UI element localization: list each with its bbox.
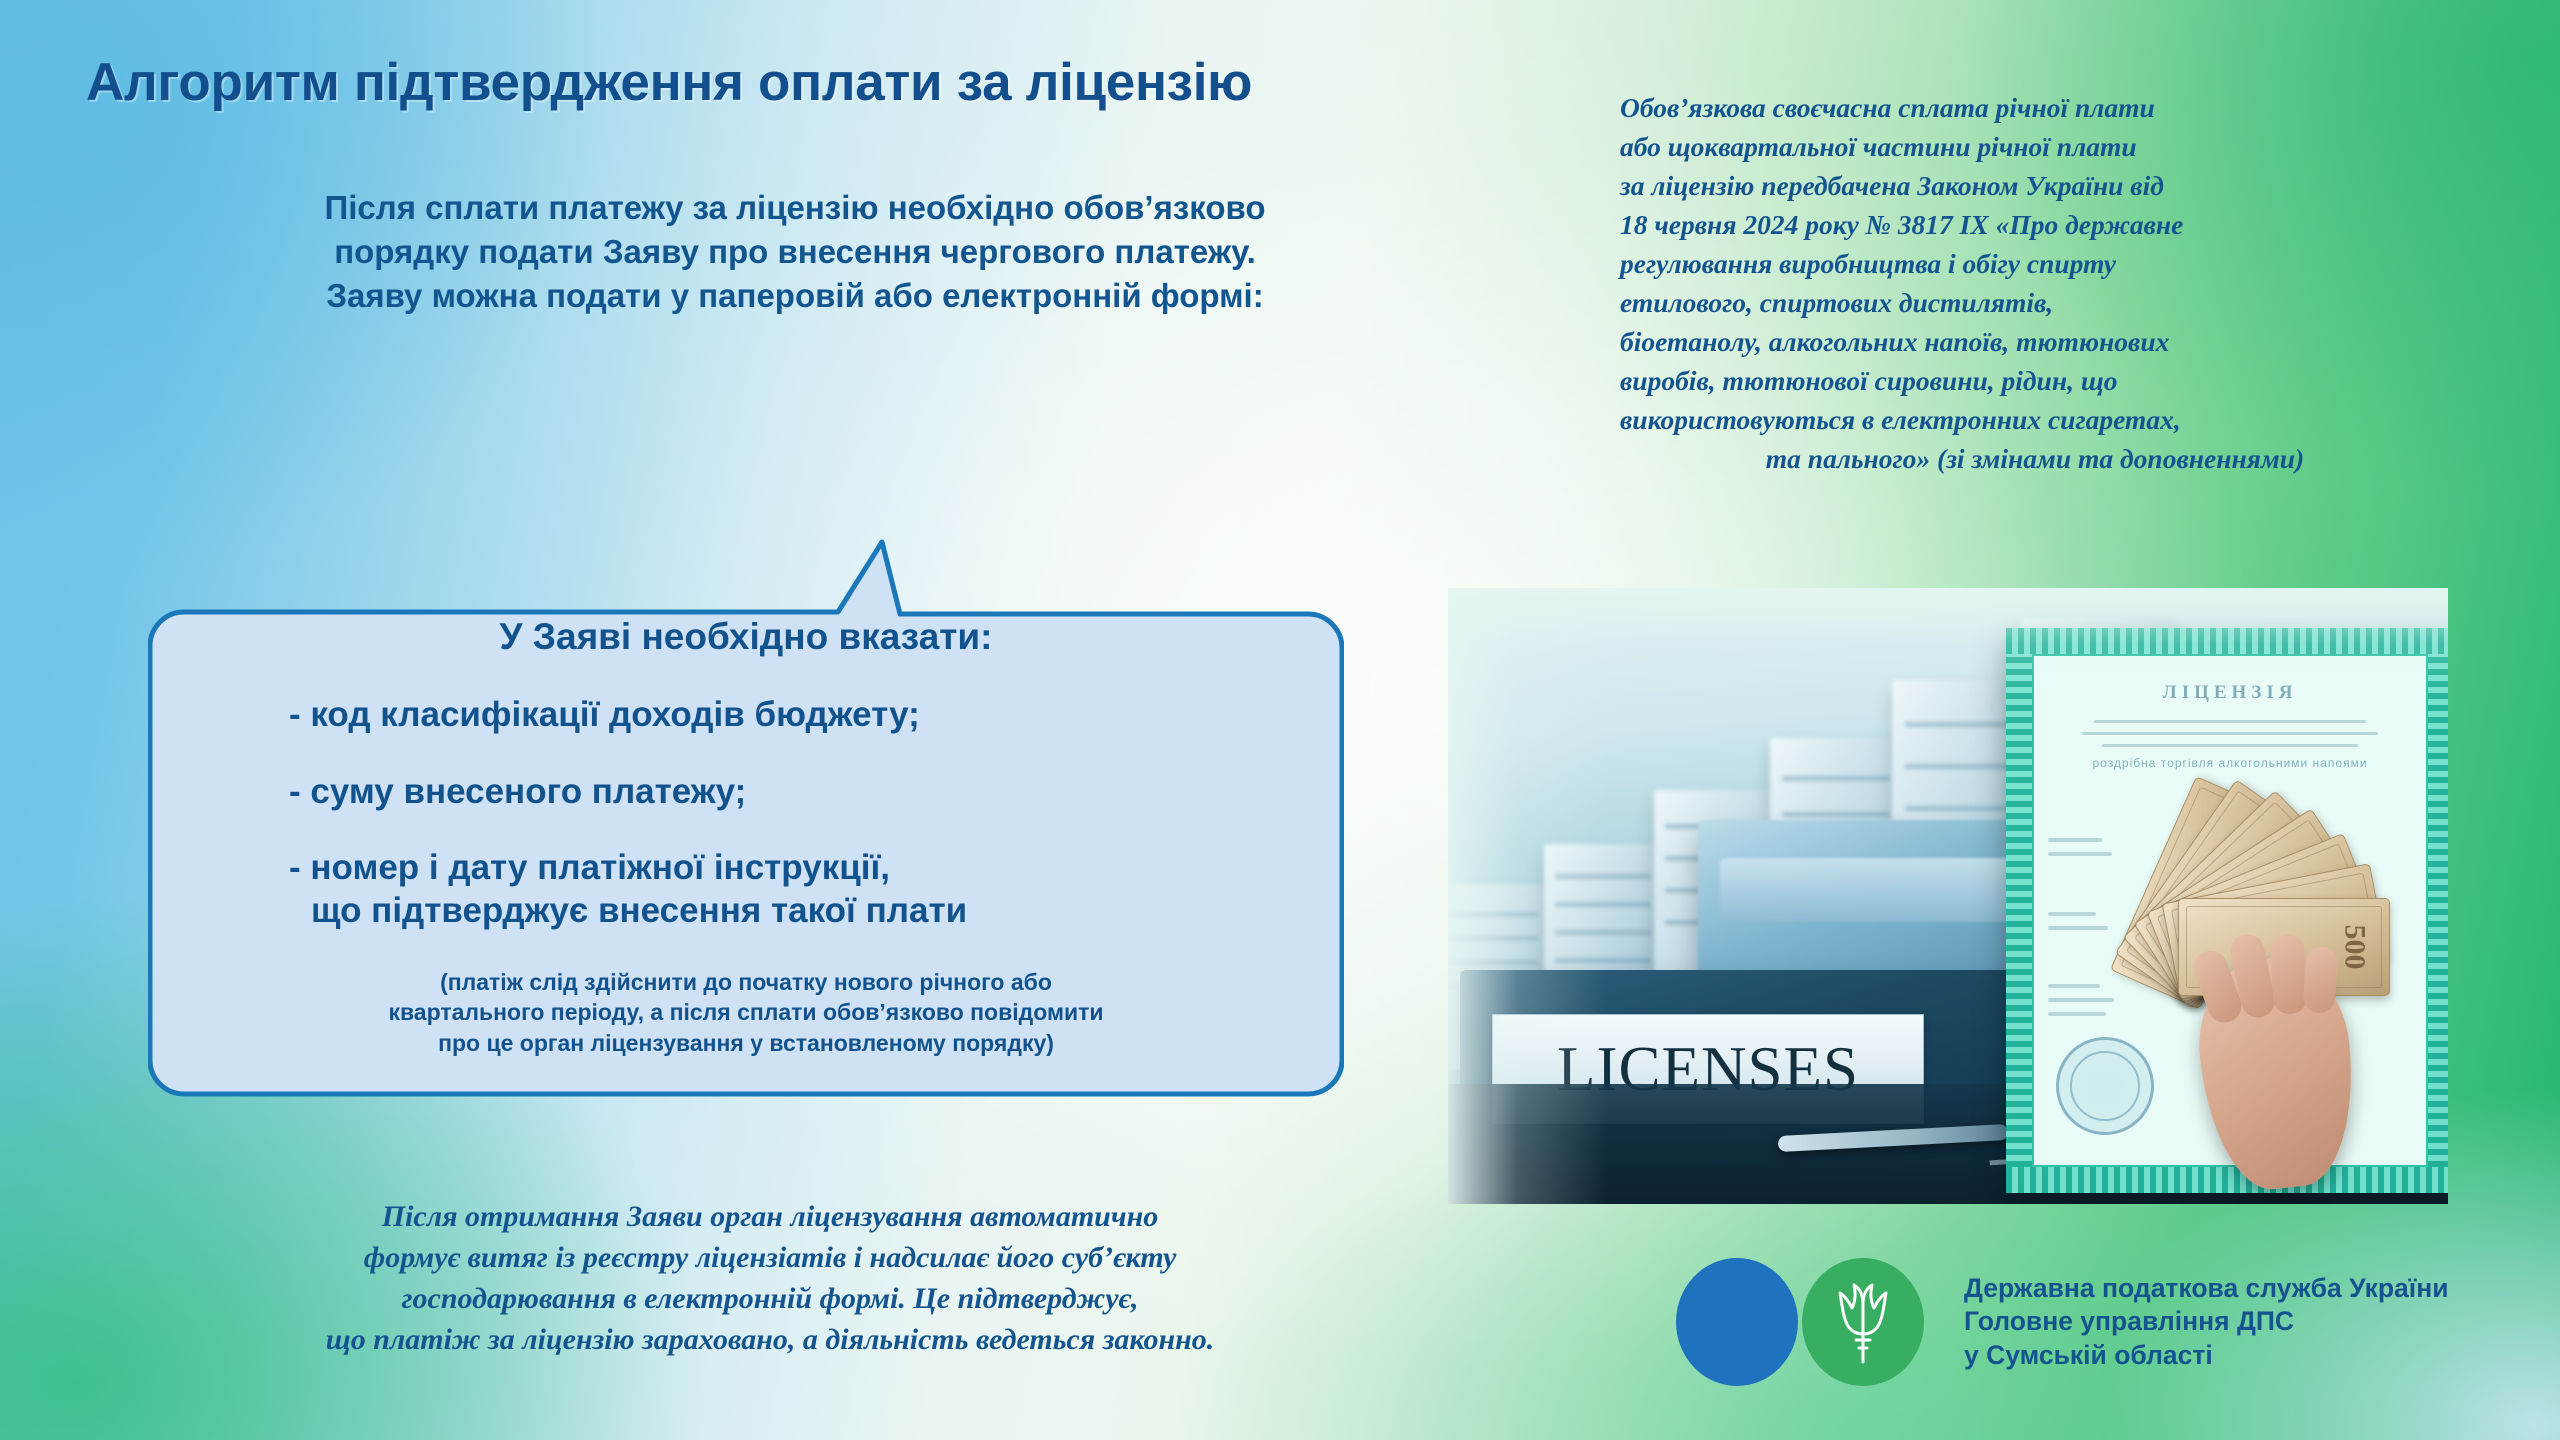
footer-line-1: Державна податкова служба України xyxy=(1964,1272,2449,1305)
law-reference-block: Обов’язкова своєчасна сплата річної плат… xyxy=(1620,88,2450,478)
trident-icon xyxy=(1832,1280,1894,1364)
binder-back-lip xyxy=(1720,858,2050,922)
law-line-9: використовуються в електронних сигаретах… xyxy=(1620,400,2450,439)
certificate-border-left xyxy=(2006,654,2032,1167)
law-line-3: за ліцензію передбачена Законом України … xyxy=(1620,166,2450,205)
dps-logo xyxy=(1676,1258,1948,1386)
certificate-heading: ЛІЦЕНЗІЯ xyxy=(2163,682,2298,704)
law-line-1: Обов’язкова своєчасна сплата річної плат… xyxy=(1620,88,2450,127)
bottom-paragraph: Після отримання Заяви орган ліцензування… xyxy=(120,1196,1420,1360)
certificate-rule-2 xyxy=(2082,732,2378,735)
finger-3 xyxy=(2270,933,2308,1015)
speech-bubble-content: У Заяві необхідно вказати: - код класифі… xyxy=(148,616,1344,1058)
speech-bubble: У Заяві необхідно вказати: - код класифі… xyxy=(148,538,1344,1098)
law-line-7: біоетанолу, алкогольних напоїв, тютюнови… xyxy=(1620,322,2450,361)
certificate-field-2 xyxy=(2048,852,2112,856)
bottom-line-2: формує витяг із реєстру ліцензіатів і на… xyxy=(120,1237,1420,1278)
law-line-4: 18 червня 2024 року № 3817 IX «Про держа… xyxy=(1620,205,2450,244)
certificate-border-top xyxy=(2006,628,2448,654)
certificate-field-7 xyxy=(2048,1012,2106,1016)
certificate-rule-1 xyxy=(2094,720,2366,723)
logo-blue-oval-icon xyxy=(1676,1258,1798,1386)
footer-line-2: Головне управління ДПС xyxy=(1964,1305,2449,1338)
bubble-item-3: - номер і дату платіжної інструкції, що … xyxy=(231,847,1261,932)
certificate-border-bottom xyxy=(2006,1167,2448,1193)
law-line-6: етилового, спиртових дистилятів, xyxy=(1620,283,2450,322)
bubble-item-1: - код класифікації доходів бюджету; xyxy=(231,694,1261,737)
bottom-line-3: господарювання в електронній формі. Це п… xyxy=(120,1278,1420,1319)
bottom-line-1: Після отримання Заяви орган ліцензування… xyxy=(120,1196,1420,1237)
bubble-note-line-2: квартального періоду, а після сплати обо… xyxy=(238,997,1254,1028)
bubble-item-3-line-1: - номер і дату платіжної інструкції, xyxy=(289,847,1261,890)
bubble-item-3-line-2: що підтверджує внесення такої плати xyxy=(289,890,1261,933)
intro-line-2: порядку подати Заяву про внесення чергов… xyxy=(100,230,1490,274)
bubble-heading: У Заяві необхідно вказати: xyxy=(148,616,1344,658)
law-line-8: виробів, тютюнової сировини, рідин, що xyxy=(1620,361,2450,400)
finger-4 xyxy=(2302,946,2339,1014)
certificate-field-1 xyxy=(2048,838,2102,842)
photo-licenses-binders: LICENSES ЛІЦЕНЗІЯ роздрібна торгівля алк… xyxy=(1448,588,2448,1204)
intro-paragraph: Після сплати платежу за ліцензію необхід… xyxy=(100,186,1490,318)
bubble-note-line-1: (платіж слід здійснити до початку нового… xyxy=(238,967,1254,998)
bubble-item-2: - суму внесеного платежу; xyxy=(231,771,1261,814)
certificate-field-6 xyxy=(2048,998,2114,1002)
license-certificate: ЛІЦЕНЗІЯ роздрібна торгівля алкогольними… xyxy=(2006,628,2448,1193)
certificate-field-5 xyxy=(2048,984,2100,988)
law-line-10: та пального» (зі змінами та доповненнями… xyxy=(1620,439,2450,478)
intro-line-1: Після сплати платежу за ліцензію необхід… xyxy=(100,186,1490,230)
law-line-2: або щоквартальної частини річної плати xyxy=(1620,127,2450,166)
certificate-subtitle: роздрібна торгівля алкогольними напоями xyxy=(2092,756,2367,770)
footer-text: Державна податкова служба України Головн… xyxy=(1964,1272,2449,1372)
certificate-field-3 xyxy=(2048,912,2096,916)
bubble-note-line-3: про це орган ліцензування у встановленом… xyxy=(238,1028,1254,1059)
bubble-note: (платіж слід здійснити до початку нового… xyxy=(148,967,1344,1059)
certificate-rule-3 xyxy=(2102,744,2358,747)
footer-line-3: у Сумській області xyxy=(1964,1339,2449,1372)
law-line-5: регулювання виробництва і обігу спирту xyxy=(1620,244,2450,283)
page-title: Алгоритм підтвердження оплати за ліцензі… xyxy=(86,52,1252,113)
footer-branding: Державна податкова служба України Головн… xyxy=(1676,1258,2449,1386)
certificate-field-4 xyxy=(2048,926,2108,930)
bottom-line-4: що платіж за ліцензію зараховано, а діял… xyxy=(120,1319,1420,1360)
intro-line-3: Заяву можна подати у паперовій або елект… xyxy=(100,274,1490,318)
